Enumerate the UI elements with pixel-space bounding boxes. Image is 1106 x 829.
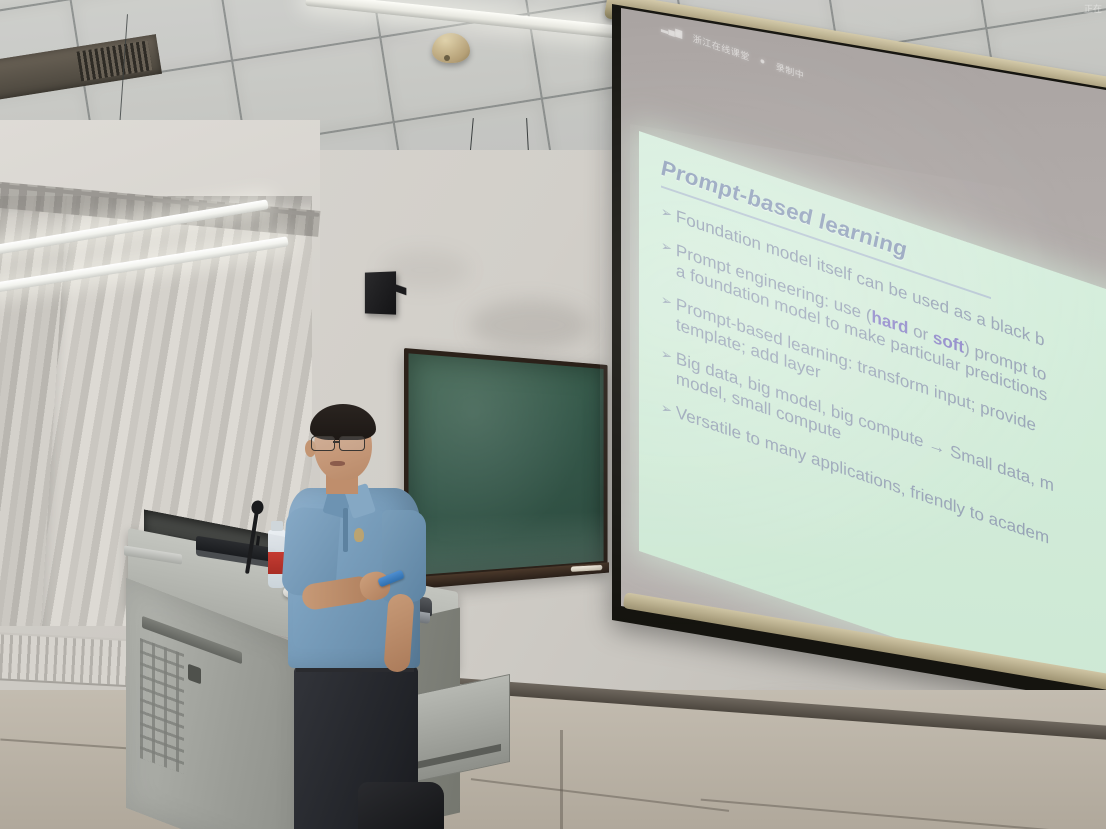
lecture-room-photo: ▂▄▆ 浙江在线课堂 ● 录制中 Prompt-based learning ➢…	[0, 0, 1106, 829]
signal-bars-icon: ▂▄▆	[661, 21, 683, 39]
wall-smudge	[470, 300, 590, 350]
projection-screen-assembly: ▂▄▆ 浙江在线课堂 ● 录制中 Prompt-based learning ➢…	[612, 0, 1106, 640]
bullet-marker-icon: ➢	[661, 201, 672, 225]
chalkboard-surface	[408, 353, 603, 575]
floor-tile-line	[560, 730, 563, 829]
eyeglasses-icon	[311, 436, 369, 449]
presenter	[286, 404, 436, 829]
bullet-marker-icon: ➢	[661, 236, 672, 280]
ceiling-speaker-dome-icon	[432, 33, 470, 63]
presenter-shirt-placket	[343, 508, 348, 552]
record-dot-icon: ●	[760, 55, 766, 67]
floor-tile-line	[701, 799, 1100, 829]
shirt-logo-icon	[354, 528, 364, 542]
radiator	[0, 632, 145, 688]
lectern-vent-holes	[140, 638, 184, 774]
presenter-mouth	[330, 461, 345, 466]
projection-screen-surface: ▂▄▆ 浙江在线课堂 ● 录制中 Prompt-based learning ➢…	[621, 8, 1106, 692]
overlay-corner-label: 正在	[1084, 2, 1102, 15]
bullet-marker-icon: ➢	[661, 344, 672, 388]
presenter-right-forearm	[383, 593, 414, 673]
floor-tile-line	[471, 778, 729, 812]
bullet-marker-icon: ➢	[661, 290, 672, 334]
overlay-signal-label: 浙江在线课堂	[693, 31, 750, 63]
bottle-cap-icon	[271, 521, 283, 531]
overlay-recording-label: 录制中	[776, 59, 805, 82]
wall-speaker-icon	[365, 271, 396, 314]
backpack[interactable]	[358, 782, 444, 829]
slide-bullet-list: ➢Foundation model itself can be used as …	[661, 201, 1106, 622]
presenter-hair	[310, 404, 376, 440]
bullet-marker-icon: ➢	[661, 398, 672, 422]
